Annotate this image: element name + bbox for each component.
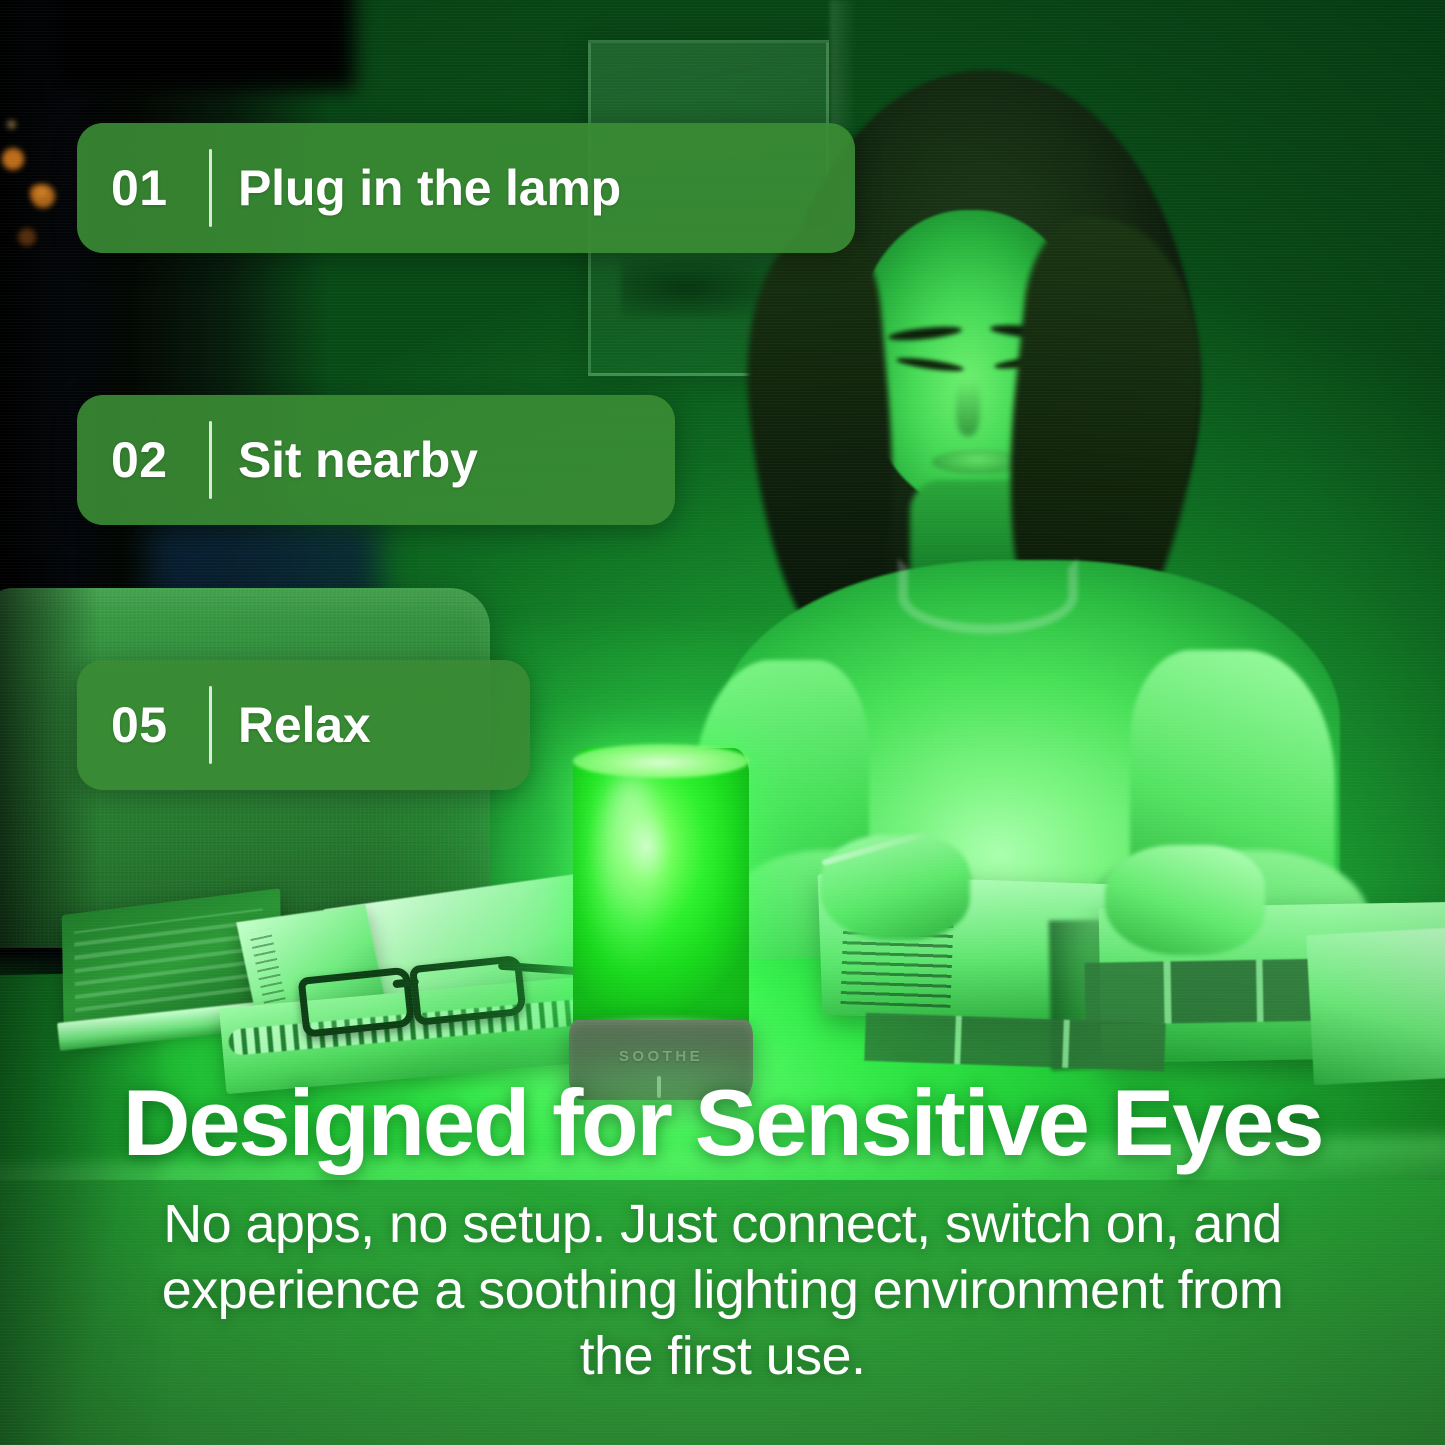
bokeh-light bbox=[18, 228, 36, 246]
step-badge-05: 05 Relax bbox=[77, 660, 530, 790]
headline: Designed for Sensitive Eyes bbox=[0, 1076, 1445, 1170]
dark-panel-top bbox=[55, 0, 355, 90]
lamp-top-cap bbox=[573, 744, 749, 778]
step-label: Relax bbox=[238, 696, 370, 754]
lamp-highlight bbox=[599, 774, 661, 974]
step-badge-01: 01 Plug in the lamp bbox=[77, 123, 855, 253]
step-label: Sit nearby bbox=[238, 431, 478, 489]
subtext-line-3: the first use. bbox=[60, 1324, 1385, 1390]
soothe-lamp: SOOTHE bbox=[565, 748, 755, 1103]
hand-left bbox=[820, 835, 970, 940]
subtext-block: No apps, no setup. Just connect, switch … bbox=[60, 1192, 1385, 1390]
step-divider bbox=[209, 149, 212, 227]
subtext-line-1: No apps, no setup. Just connect, switch … bbox=[60, 1192, 1385, 1258]
step-badge-02: 02 Sit nearby bbox=[77, 395, 675, 525]
product-marketing-image: SOOTHE 01 Plug in the lamp 02 Sit nearby… bbox=[0, 0, 1445, 1445]
step-number: 01 bbox=[111, 159, 203, 217]
shirt-collar bbox=[898, 558, 1078, 634]
hand-right bbox=[1105, 845, 1265, 955]
book-cover-text bbox=[74, 909, 264, 1013]
step-number: 05 bbox=[111, 696, 203, 754]
step-label: Plug in the lamp bbox=[238, 159, 621, 217]
bokeh-light bbox=[7, 120, 16, 129]
step-number: 02 bbox=[111, 431, 203, 489]
step-divider bbox=[209, 686, 212, 764]
step-divider bbox=[209, 421, 212, 499]
bokeh-light bbox=[2, 148, 24, 170]
nose bbox=[956, 378, 980, 436]
bokeh-light bbox=[38, 188, 47, 197]
eyeglass-lens-left bbox=[298, 966, 416, 1037]
subtext-line-2: experience a soothing lighting environme… bbox=[60, 1258, 1385, 1324]
book-far-right bbox=[1306, 925, 1445, 1085]
